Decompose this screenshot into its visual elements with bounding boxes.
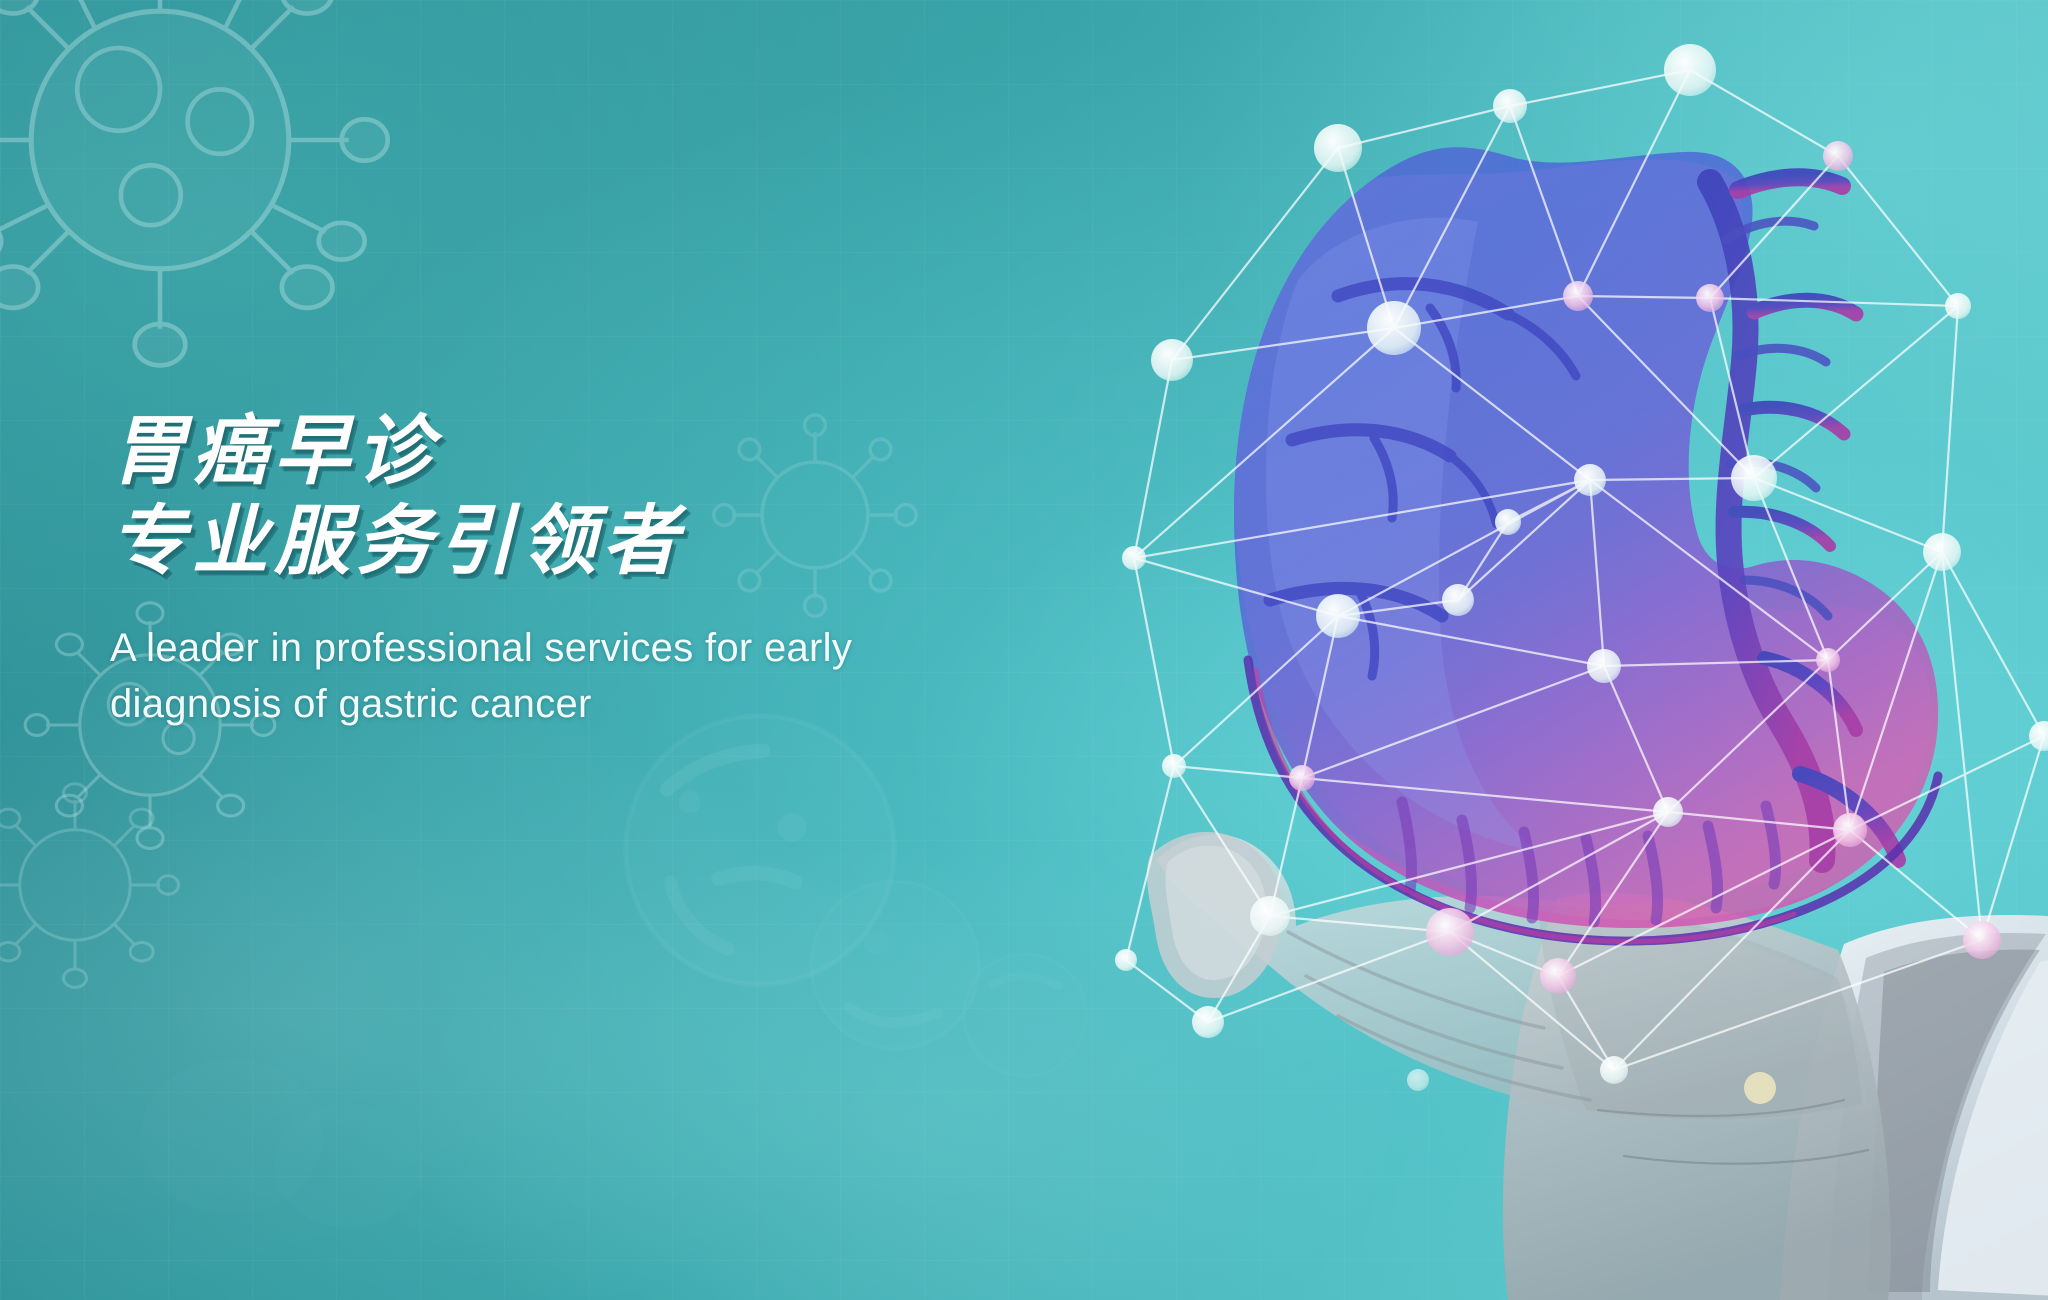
virus-particle-icon [0, 0, 390, 370]
hero-banner: 胃癌早诊 专业服务引领者 A leader in professional se… [0, 0, 2048, 1300]
subtitle-line-1: A leader in professional services for ea… [110, 622, 990, 674]
stomach-in-hand-illustration [1038, 60, 2048, 1300]
network-node [1115, 44, 2048, 1104]
blurred-cell-cluster-icon [120, 1010, 460, 1270]
hero-copy-block: 胃癌早诊 专业服务引领者 A leader in professional se… [110, 408, 1050, 730]
page-title-line-2: 专业服务引领者 [110, 498, 1050, 586]
network-mesh-overlay [1115, 44, 2048, 1104]
page-title-line-1: 胃癌早诊 [110, 408, 1050, 496]
cell-shape-icon [790, 860, 1000, 1070]
hand-graphic [1147, 832, 2048, 1300]
stomach-organ-graphic [1234, 147, 1938, 959]
cell-shape-icon [940, 930, 1110, 1100]
subtitle-line-2: diagnosis of gastric cancer [110, 678, 990, 730]
virus-particle-icon [0, 760, 190, 1010]
cell-shape-icon [600, 690, 920, 1010]
